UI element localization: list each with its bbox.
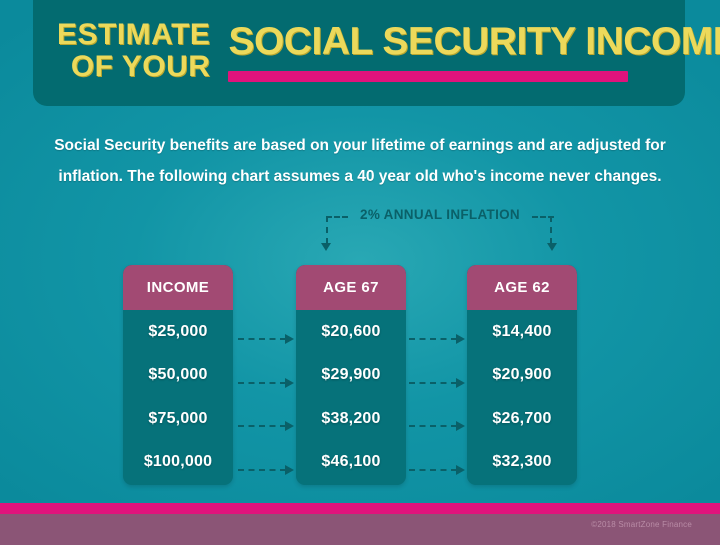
title-left-line1: ESTIMATE [57, 19, 210, 51]
row-arrow-right-icon [238, 377, 296, 389]
column-age-62: AGE 62 $14,400 $20,900 $26,700 $32,300 [467, 265, 577, 485]
subtitle-text: Social Security benefits are based on yo… [40, 130, 680, 192]
title-underline-rule [228, 71, 628, 82]
bracket-arrow-down-right-icon [547, 243, 557, 251]
inflation-label: 2% ANNUAL INFLATION [320, 207, 560, 222]
page-title: SOCIAL SECURITY INCOME [228, 21, 720, 63]
table-cell: $100,000 [123, 441, 233, 485]
column-age-67: AGE 67 $20,600 $29,900 $38,200 $46,100 [296, 265, 406, 485]
table-cell: $75,000 [123, 397, 233, 441]
table-cell: $38,200 [296, 397, 406, 441]
footer-accent-bar [0, 503, 720, 514]
table-cell: $20,900 [467, 354, 577, 398]
header-banner: ESTIMATE OF YOUR SOCIAL SECURITY INCOME [33, 0, 685, 106]
column-header-income: INCOME [123, 265, 233, 310]
infographic-canvas: ESTIMATE OF YOUR SOCIAL SECURITY INCOME … [0, 0, 720, 545]
subtitle-line-1: Social Security benefits are based on yo… [40, 130, 680, 161]
row-arrow-right-icon [409, 333, 467, 345]
row-arrow-right-icon [409, 420, 467, 432]
bracket-segment-left [326, 216, 348, 218]
footer-bar [0, 514, 720, 545]
bracket-arrow-down-left-icon [321, 243, 331, 251]
table-cell: $50,000 [123, 354, 233, 398]
title-left-block: ESTIMATE OF YOUR [57, 17, 210, 83]
inflation-annotation: 2% ANNUAL INFLATION [320, 207, 560, 257]
row-arrow-right-icon [409, 464, 467, 476]
table-cell: $29,900 [296, 354, 406, 398]
table-cell: $25,000 [123, 310, 233, 354]
footer-credit: ©2018 SmartZone Finance [591, 520, 692, 529]
title-right-block: SOCIAL SECURITY INCOME [210, 19, 720, 82]
bracket-drop-right [550, 216, 552, 244]
column-income: INCOME $25,000 $50,000 $75,000 $100,000 [123, 265, 233, 485]
row-arrow-right-icon [238, 464, 296, 476]
table-cell: $32,300 [467, 441, 577, 485]
table-cell: $14,400 [467, 310, 577, 354]
table-cell: $20,600 [296, 310, 406, 354]
subtitle-line-2: inflation. The following chart assumes a… [40, 161, 680, 192]
column-header-age-62: AGE 62 [467, 265, 577, 310]
row-arrow-right-icon [238, 333, 296, 345]
title-left-line2: OF YOUR [57, 51, 210, 83]
row-arrow-right-icon [409, 377, 467, 389]
row-arrow-right-icon [238, 420, 296, 432]
table-cell: $26,700 [467, 397, 577, 441]
table-cell: $46,100 [296, 441, 406, 485]
bracket-drop-left [326, 216, 328, 244]
column-header-age-67: AGE 67 [296, 265, 406, 310]
